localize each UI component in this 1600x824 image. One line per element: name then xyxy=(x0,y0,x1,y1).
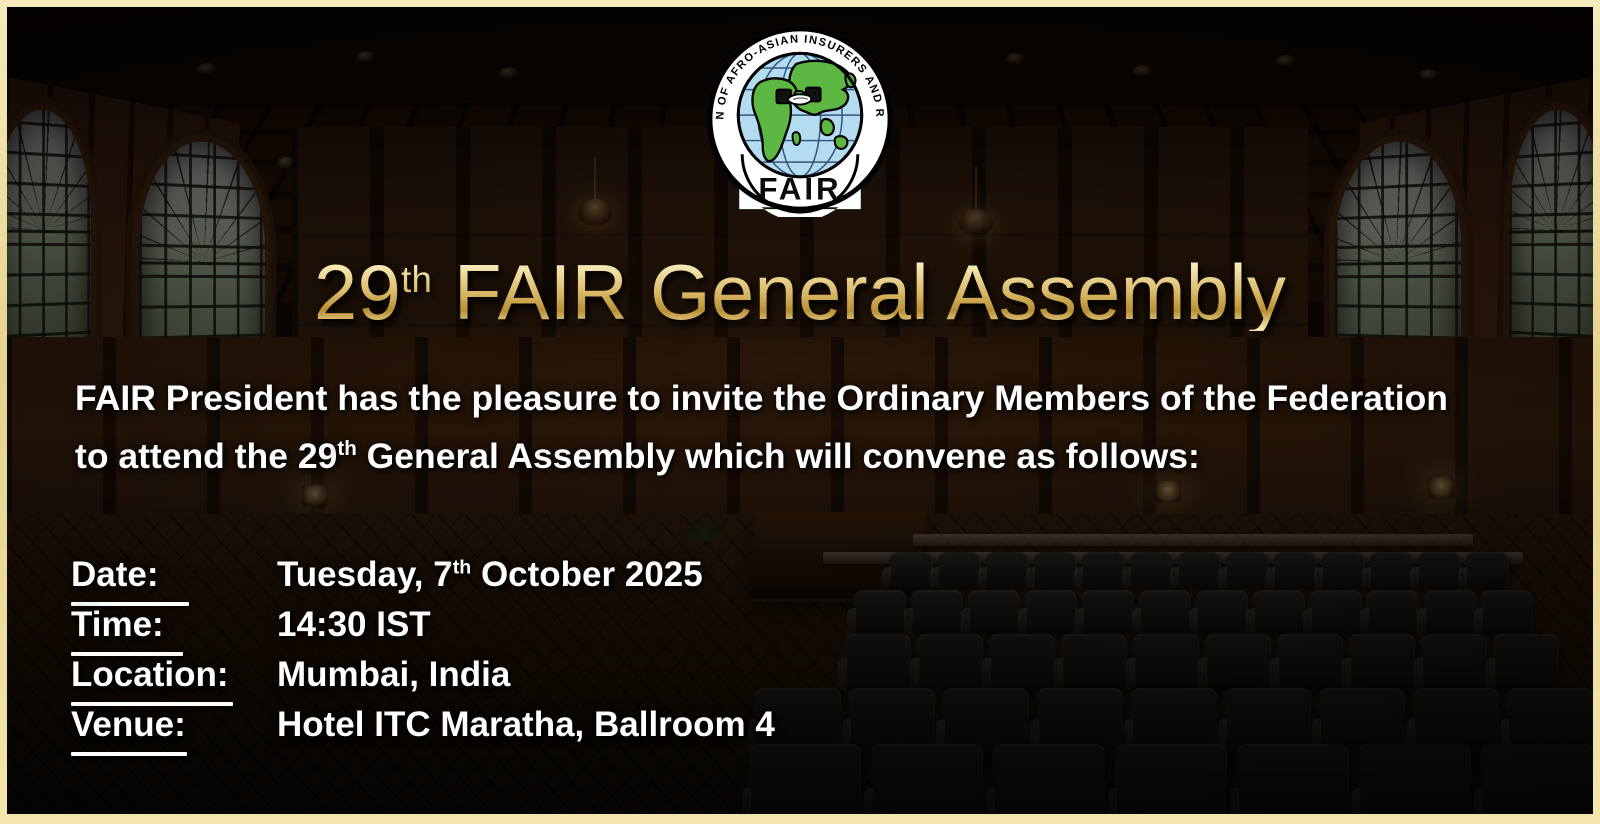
detail-value-venue: Hotel ITC Maratha, Ballroom 4 xyxy=(277,705,775,745)
title-ordinal-suffix: th xyxy=(401,259,432,300)
detail-label-text: Venue: xyxy=(71,705,186,744)
slide-frame: FEDERATION OF AFRO-ASIAN INSURERS AND RE… xyxy=(0,0,1600,824)
title-ordinal: 29 xyxy=(314,248,401,336)
detail-label-time: Time: xyxy=(71,605,277,645)
detail-label-text: Location: xyxy=(71,655,228,694)
label-underline xyxy=(71,752,187,756)
detail-value-date: Tuesday, 7th October 2025 xyxy=(277,555,703,595)
invitation-paragraph: FAIR President has the pleasure to invit… xyxy=(75,370,1455,485)
detail-row-date: Date: Tuesday, 7th October 2025 xyxy=(71,555,775,605)
detail-row-location: Location: Mumbai, India xyxy=(71,655,775,705)
invitation-ordinal: 29 xyxy=(298,436,338,476)
invitation-ordinal-suffix: th xyxy=(337,437,356,460)
detail-value-superscript: th xyxy=(453,556,472,578)
event-details-list: Date: Tuesday, 7th October 2025 Time: 14… xyxy=(71,555,775,755)
detail-row-time: Time: 14:30 IST xyxy=(71,605,775,655)
page-title: 29th FAIR General Assembly xyxy=(7,253,1593,331)
title-rest: FAIR General Assembly xyxy=(432,248,1286,336)
globe-graphic xyxy=(738,53,861,185)
detail-row-venue: Venue: Hotel ITC Maratha, Ballroom 4 xyxy=(71,705,775,755)
logo-wordmark: FAIR xyxy=(758,171,841,206)
detail-label-date: Date: xyxy=(71,555,277,595)
invitation-text-part2: General Assembly which will convene as f… xyxy=(357,436,1200,476)
detail-label-text: Date: xyxy=(71,555,159,594)
slide-canvas: FEDERATION OF AFRO-ASIAN INSURERS AND RE… xyxy=(7,7,1593,814)
detail-label-location: Location: xyxy=(71,655,277,695)
detail-label-text: Time: xyxy=(71,605,164,644)
detail-label-venue: Venue: xyxy=(71,705,277,745)
fair-logo: FEDERATION OF AFRO-ASIAN INSURERS AND RE… xyxy=(702,21,898,217)
detail-value-time: 14:30 IST xyxy=(277,605,431,645)
detail-value-location: Mumbai, India xyxy=(277,655,510,695)
